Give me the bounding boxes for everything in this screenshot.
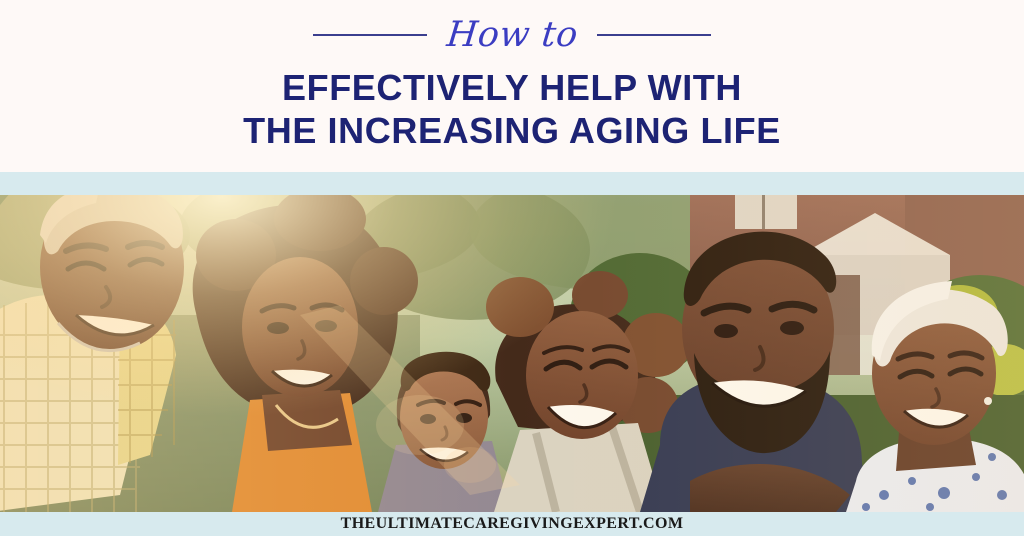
eyebrow-row: How to [0,12,1024,58]
website-url[interactable]: THEULTIMATECAREGIVINGEXPERT.COM [341,515,684,533]
page-title: EFFECTIVELY HELP WITH THE INCREASING AGI… [0,66,1024,152]
graphic-canvas: How to EFFECTIVELY HELP WITH THE INCREAS… [0,0,1024,536]
family-photo [0,195,1024,512]
eyebrow-text: How to [445,18,580,53]
headline-line-1: EFFECTIVELY HELP WITH [0,66,1024,109]
headline-line-2: THE INCREASING AGING LIFE [0,109,1024,152]
eyebrow-rule-left [313,34,427,36]
footer-bar: THEULTIMATECAREGIVINGEXPERT.COM [0,512,1024,536]
header-panel: How to EFFECTIVELY HELP WITH THE INCREAS… [0,0,1024,172]
eyebrow-rule-right [597,34,711,36]
family-photo-illustration [0,195,1024,512]
accent-band-top [0,172,1024,195]
